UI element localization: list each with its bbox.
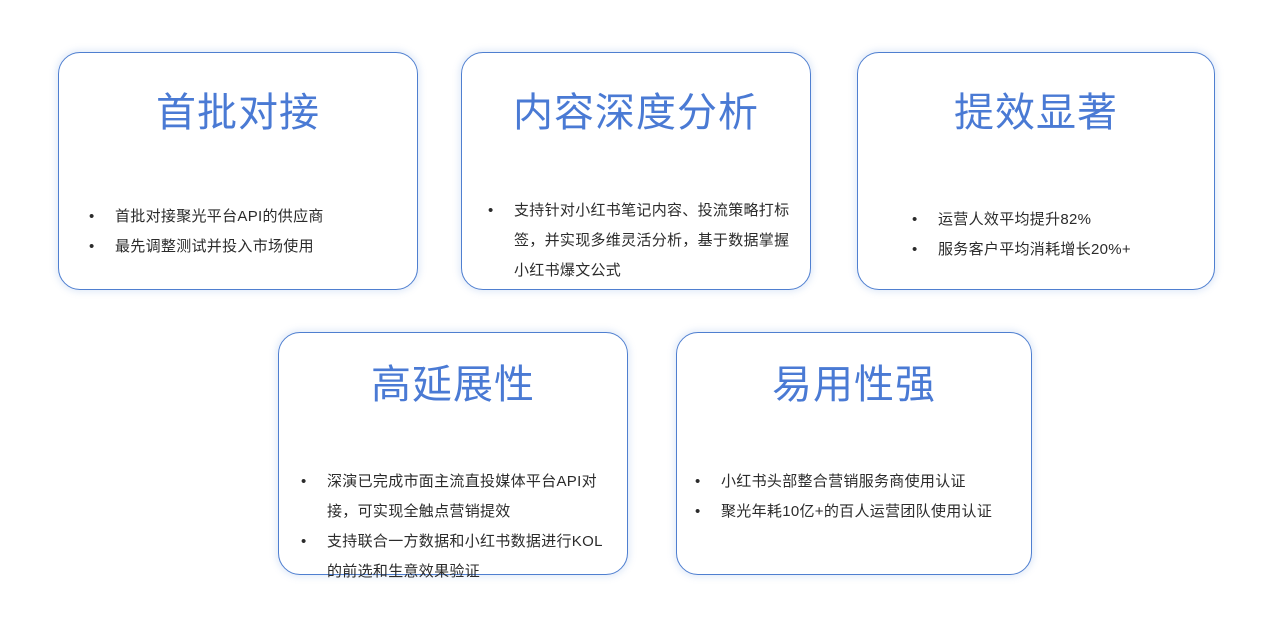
card-bullet-list: • 支持针对小红书笔记内容、投流策略打标签，并实现多维灵活分析，基于数据掌握小红… bbox=[462, 196, 810, 286]
list-item: • 深演已完成市面主流直投媒体平台API对接，可实现全触点营销提效 bbox=[301, 467, 615, 527]
card-title: 提效显著 bbox=[954, 91, 1118, 136]
list-item: • 聚光年耗10亿+的百人运营团队使用认证 bbox=[695, 497, 1019, 527]
card-title: 内容深度分析 bbox=[513, 91, 759, 136]
bullet-text: 服务客户平均消耗增长20%+ bbox=[938, 235, 1194, 265]
bullet-text: 聚光年耗10亿+的百人运营团队使用认证 bbox=[721, 497, 1019, 527]
bullet-point-icon: • bbox=[695, 497, 721, 527]
bullet-text: 小红书头部整合营销服务商使用认证 bbox=[721, 467, 1019, 497]
feature-card-ease-of-use[interactable]: 易用性强 • 小红书头部整合营销服务商使用认证 • 聚光年耗10亿+的百人运营团… bbox=[676, 332, 1032, 575]
list-item: • 运营人效平均提升82% bbox=[912, 205, 1194, 235]
feature-card-content-depth-analysis[interactable]: 内容深度分析 • 支持针对小红书笔记内容、投流策略打标签，并实现多维灵活分析，基… bbox=[461, 52, 811, 290]
card-title: 易用性强 bbox=[772, 363, 936, 408]
bullet-text: 运营人效平均提升82% bbox=[938, 205, 1194, 235]
bullet-point-icon: • bbox=[912, 205, 938, 235]
bullet-point-icon: • bbox=[89, 202, 115, 232]
list-item: • 首批对接聚光平台API的供应商 bbox=[89, 202, 393, 232]
bullet-text: 深演已完成市面主流直投媒体平台API对接，可实现全触点营销提效 bbox=[327, 467, 615, 527]
bullet-point-icon: • bbox=[301, 467, 327, 497]
bullet-point-icon: • bbox=[89, 232, 115, 262]
card-title: 首批对接 bbox=[156, 91, 320, 136]
card-bullet-list: • 运营人效平均提升82% • 服务客户平均消耗增长20%+ bbox=[858, 205, 1214, 265]
list-item: • 服务客户平均消耗增长20%+ bbox=[912, 235, 1194, 265]
feature-card-efficiency-gains[interactable]: 提效显著 • 运营人效平均提升82% • 服务客户平均消耗增长20%+ bbox=[857, 52, 1215, 290]
card-bullet-list: • 小红书头部整合营销服务商使用认证 • 聚光年耗10亿+的百人运营团队使用认证 bbox=[677, 467, 1031, 527]
card-bullet-list: • 深演已完成市面主流直投媒体平台API对接，可实现全触点营销提效 • 支持联合… bbox=[279, 467, 627, 587]
list-item: • 支持联合一方数据和小红书数据进行KOL的前选和生意效果验证 bbox=[301, 527, 615, 587]
bullet-text: 支持联合一方数据和小红书数据进行KOL的前选和生意效果验证 bbox=[327, 527, 615, 587]
bullet-text: 最先调整测试并投入市场使用 bbox=[115, 232, 393, 262]
bullet-point-icon: • bbox=[488, 196, 514, 226]
bullet-text: 支持针对小红书笔记内容、投流策略打标签，并实现多维灵活分析，基于数据掌握小红书爆… bbox=[514, 196, 794, 286]
bullet-point-icon: • bbox=[301, 527, 327, 557]
card-title: 高延展性 bbox=[371, 363, 535, 408]
bullet-text: 首批对接聚光平台API的供应商 bbox=[115, 202, 393, 232]
bullet-point-icon: • bbox=[912, 235, 938, 265]
feature-card-first-integration[interactable]: 首批对接 • 首批对接聚光平台API的供应商 • 最先调整测试并投入市场使用 bbox=[58, 52, 418, 290]
list-item: • 支持针对小红书笔记内容、投流策略打标签，并实现多维灵活分析，基于数据掌握小红… bbox=[488, 196, 794, 286]
list-item: • 小红书头部整合营销服务商使用认证 bbox=[695, 467, 1019, 497]
list-item: • 最先调整测试并投入市场使用 bbox=[89, 232, 393, 262]
feature-card-high-extensibility[interactable]: 高延展性 • 深演已完成市面主流直投媒体平台API对接，可实现全触点营销提效 •… bbox=[278, 332, 628, 575]
card-bullet-list: • 首批对接聚光平台API的供应商 • 最先调整测试并投入市场使用 bbox=[59, 202, 417, 262]
slide-canvas: 首批对接 • 首批对接聚光平台API的供应商 • 最先调整测试并投入市场使用 内… bbox=[0, 0, 1280, 625]
bullet-point-icon: • bbox=[695, 467, 721, 497]
